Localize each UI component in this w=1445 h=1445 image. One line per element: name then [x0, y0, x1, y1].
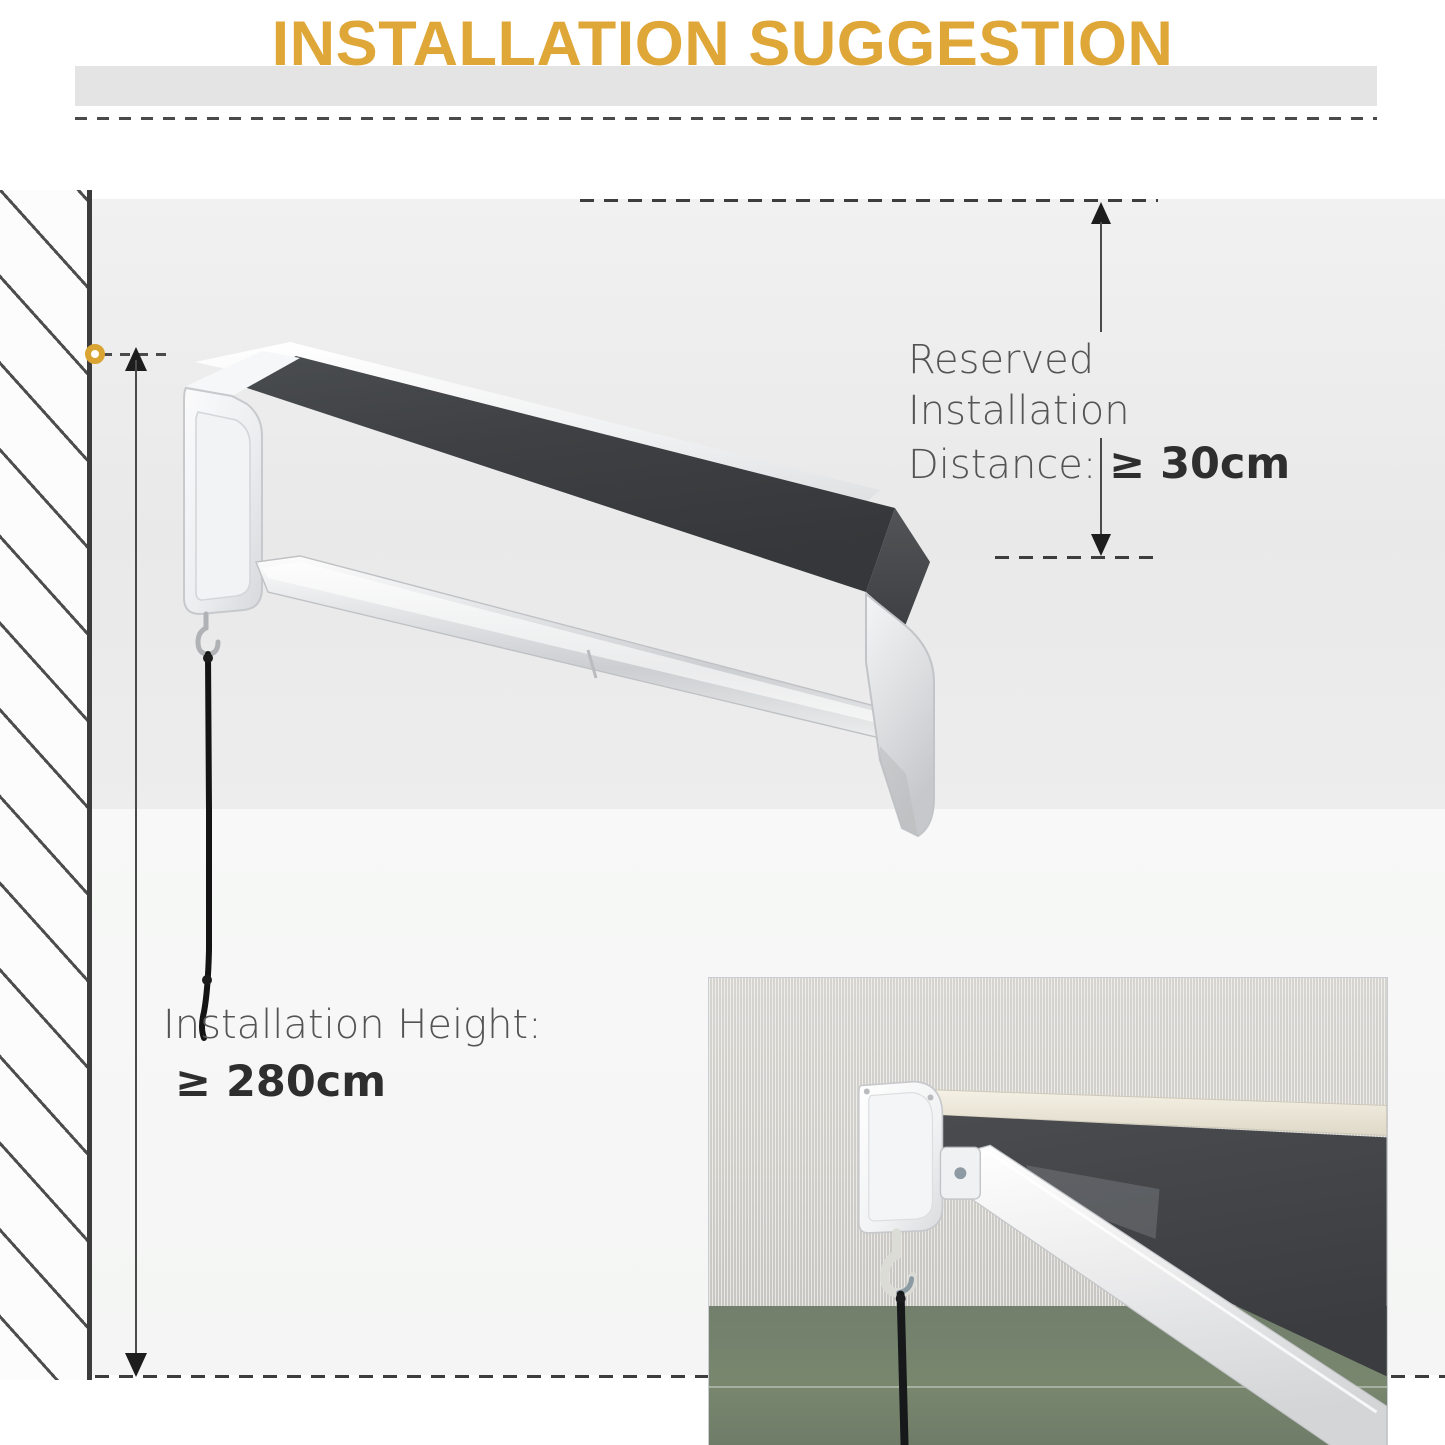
diagram-scene: Reserved Installation Distance: ≥ 30cm I…: [0, 190, 1445, 1380]
installation-height-label: Installation Height: ≥ 280cm: [163, 1000, 643, 1110]
awning-hook-icon: [198, 614, 218, 654]
inset-joint-bolt-icon: [954, 1167, 966, 1179]
inset-screw-right-icon: [928, 1095, 934, 1101]
inset-crank-collar-icon: [896, 1294, 906, 1304]
page-title: INSTALLATION SUGGESTION: [0, 8, 1445, 80]
reserved-distance-value: ≥ 30cm: [1109, 439, 1290, 489]
crank-rod-collar-bottom: [202, 975, 212, 985]
inset-awning-graphic: [709, 978, 1387, 1445]
installation-suggestion-page: INSTALLATION SUGGESTION: [0, 0, 1445, 1445]
inset-screw-left-icon: [864, 1089, 870, 1095]
title-underline-dashes: [75, 117, 1377, 120]
installation-height-line1: Installation Height:: [163, 1002, 542, 1048]
inset-crank-rod: [901, 1295, 905, 1445]
crank-rod-collar-top: [203, 653, 213, 663]
inset-end-cap-inset-panel: [869, 1093, 933, 1221]
awning-end-cap-left-inset-panel: [196, 412, 250, 600]
installation-height-value: ≥ 280cm: [163, 1055, 643, 1110]
reserved-distance-label: Reserved Installation Distance: ≥ 30cm: [908, 335, 1328, 492]
reserved-distance-line1: Reserved Installation: [908, 337, 1130, 434]
reserved-distance-line2-prefix: Distance:: [908, 442, 1109, 488]
inset-photo-bracket-closeup: [708, 977, 1388, 1445]
awning-arm-rail-highlight: [262, 562, 886, 724]
